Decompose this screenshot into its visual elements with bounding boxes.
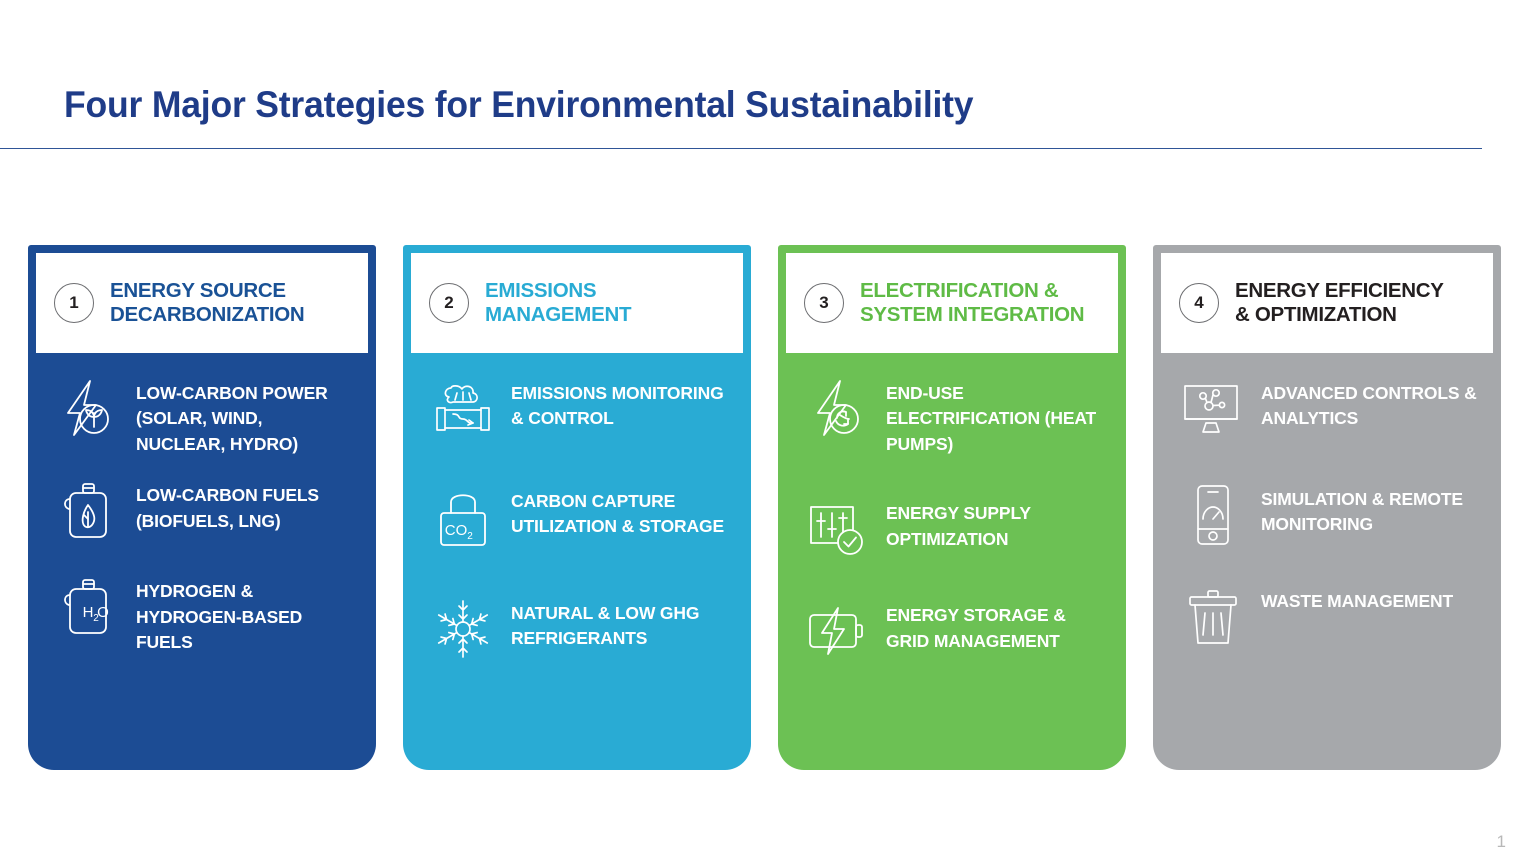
card-4-title-line1: ENERGY EFFICIENCY xyxy=(1235,279,1444,303)
list-item-label: EMISSIONS MONITORING & CONTROL xyxy=(511,375,731,432)
svg-text:H: H xyxy=(83,604,94,621)
list-item[interactable]: WASTE MANAGEMENT xyxy=(1179,583,1481,651)
card-1-body: LOW-CARBON POWER (SOLAR, WIND, NUCLEAR, … xyxy=(36,353,368,770)
card-1-title: ENERGY SOURCE DECARBONIZATION xyxy=(110,279,304,327)
card-2-title-line1: EMISSIONS xyxy=(485,279,631,303)
card-2-title-line2: MANAGEMENT xyxy=(485,303,631,327)
strategy-card-4[interactable]: 4 ENERGY EFFICIENCY & OPTIMIZATION xyxy=(1153,245,1501,770)
card-3-body: END-USE ELECTRIFICATION (HEAT PUMPS) ENE… xyxy=(786,353,1118,770)
trash-bin-icon xyxy=(1179,583,1247,651)
list-item[interactable]: EMISSIONS MONITORING & CONTROL xyxy=(429,375,731,443)
phone-gauge-icon xyxy=(1179,481,1247,549)
card-1-number-badge: 1 xyxy=(54,283,94,323)
list-item[interactable]: ADVANCED CONTROLS & ANALYTICS xyxy=(1179,375,1481,443)
page-number: 1 xyxy=(1497,832,1506,852)
svg-text:CO: CO xyxy=(445,522,468,539)
card-3-title: ELECTRIFICATION & SYSTEM INTEGRATION xyxy=(860,279,1084,327)
battery-bolt-icon xyxy=(804,597,872,665)
card-2-title: EMISSIONS MANAGEMENT xyxy=(485,279,631,327)
bolt-heatpump-icon xyxy=(804,375,872,443)
list-item-label: SIMULATION & REMOTE MONITORING xyxy=(1261,481,1481,538)
list-item-label: ENERGY STORAGE & GRID MANAGEMENT xyxy=(886,597,1106,654)
list-item-label: WASTE MANAGEMENT xyxy=(1261,583,1453,614)
card-2-header: 2 EMISSIONS MANAGEMENT xyxy=(411,253,743,353)
sliders-check-icon xyxy=(804,495,872,563)
snowflake-icon xyxy=(429,595,497,663)
list-item[interactable]: CO 2 CARBON CAPTURE UTILIZATION & STORAG… xyxy=(429,483,731,551)
card-3-title-line1: ELECTRIFICATION & xyxy=(860,279,1084,303)
list-item[interactable]: NATURAL & LOW GHG REFRIGERANTS xyxy=(429,595,731,663)
pipe-leak-icon xyxy=(429,375,497,443)
svg-text:2: 2 xyxy=(467,531,473,542)
strategy-card-1[interactable]: 1 ENERGY SOURCE DECARBONIZATION LOW-CAR xyxy=(28,245,376,770)
list-item-label: ADVANCED CONTROLS & ANALYTICS xyxy=(1261,375,1481,432)
fuel-can-h2o-icon: H 2 O xyxy=(54,573,122,641)
page-title: Four Major Strategies for Environmental … xyxy=(64,84,973,126)
fuel-can-leaf-icon xyxy=(54,477,122,545)
card-2-body: EMISSIONS MONITORING & CONTROL CO 2 CARB… xyxy=(411,353,743,770)
list-item-label: CARBON CAPTURE UTILIZATION & STORAGE xyxy=(511,483,731,540)
card-1-title-line1: ENERGY SOURCE xyxy=(110,279,304,303)
card-1-title-line2: DECARBONIZATION xyxy=(110,303,304,327)
card-4-number-badge: 4 xyxy=(1179,283,1219,323)
bolt-leaf-icon xyxy=(54,375,122,443)
card-4-title-line2: & OPTIMIZATION xyxy=(1235,303,1444,327)
strategy-cards-row: 1 ENERGY SOURCE DECARBONIZATION LOW-CAR xyxy=(28,245,1510,770)
title-divider xyxy=(0,148,1482,149)
list-item[interactable]: H 2 O HYDROGEN & HYDROGEN-BASED FUELS xyxy=(54,573,356,655)
card-1-header: 1 ENERGY SOURCE DECARBONIZATION xyxy=(36,253,368,353)
card-4-title: ENERGY EFFICIENCY & OPTIMIZATION xyxy=(1235,279,1444,327)
monitor-analytics-icon xyxy=(1179,375,1247,443)
card-4-header: 4 ENERGY EFFICIENCY & OPTIMIZATION xyxy=(1161,253,1493,353)
card-3-header: 3 ELECTRIFICATION & SYSTEM INTEGRATION xyxy=(786,253,1118,353)
list-item[interactable]: LOW-CARBON FUELS (BIOFUELS, LNG) xyxy=(54,477,356,545)
list-item-label: END-USE ELECTRIFICATION (HEAT PUMPS) xyxy=(886,375,1106,457)
card-2-number-badge: 2 xyxy=(429,283,469,323)
list-item[interactable]: ENERGY SUPPLY OPTIMIZATION xyxy=(804,495,1106,563)
list-item-label: NATURAL & LOW GHG REFRIGERANTS xyxy=(511,595,731,652)
strategy-card-2[interactable]: 2 EMISSIONS MANAGEMENT xyxy=(403,245,751,770)
list-item[interactable]: LOW-CARBON POWER (SOLAR, WIND, NUCLEAR, … xyxy=(54,375,356,457)
card-4-body: ADVANCED CONTROLS & ANALYTICS SIMULATION… xyxy=(1161,353,1493,770)
list-item[interactable]: ENERGY STORAGE & GRID MANAGEMENT xyxy=(804,597,1106,665)
list-item-label: LOW-CARBON FUELS (BIOFUELS, LNG) xyxy=(136,477,356,534)
card-3-number-badge: 3 xyxy=(804,283,844,323)
co2-lock-icon: CO 2 xyxy=(429,483,497,551)
list-item[interactable]: SIMULATION & REMOTE MONITORING xyxy=(1179,481,1481,549)
list-item-label: LOW-CARBON POWER (SOLAR, WIND, NUCLEAR, … xyxy=(136,375,356,457)
list-item[interactable]: END-USE ELECTRIFICATION (HEAT PUMPS) xyxy=(804,375,1106,457)
list-item-label: HYDROGEN & HYDROGEN-BASED FUELS xyxy=(136,573,356,655)
list-item-label: ENERGY SUPPLY OPTIMIZATION xyxy=(886,495,1106,552)
strategy-card-3[interactable]: 3 ELECTRIFICATION & SYSTEM INTEGRATION xyxy=(778,245,1126,770)
svg-text:O: O xyxy=(97,604,109,621)
card-3-title-line2: SYSTEM INTEGRATION xyxy=(860,303,1084,327)
